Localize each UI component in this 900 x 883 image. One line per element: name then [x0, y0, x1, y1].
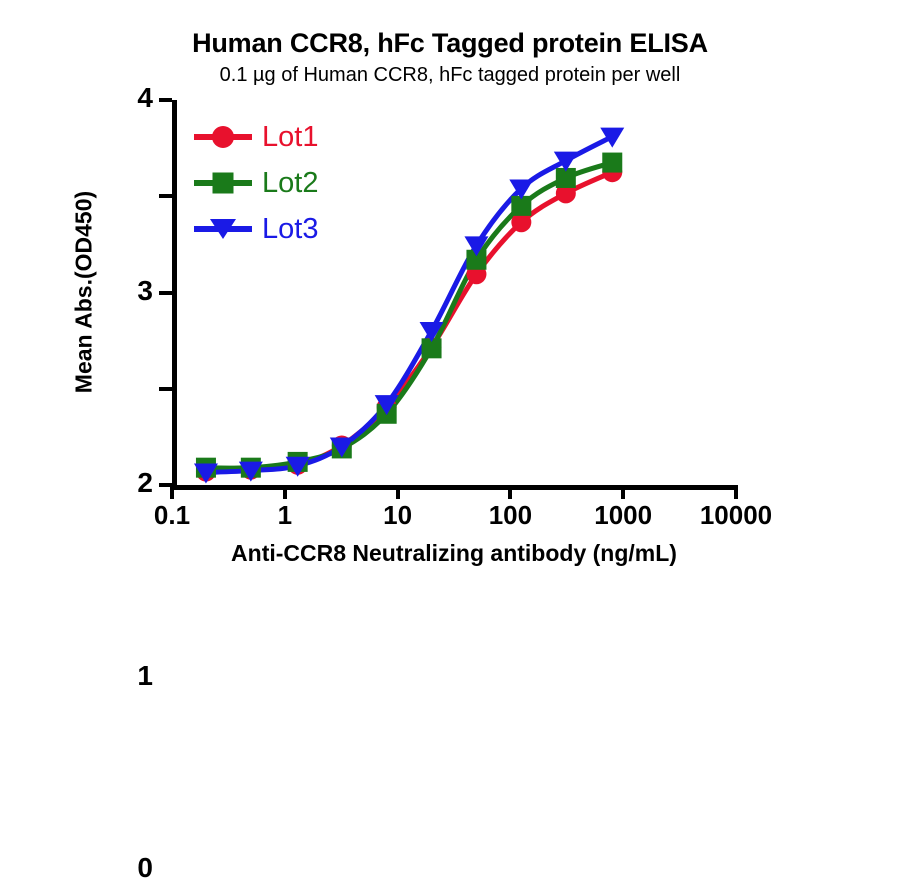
chart-legend: Lot1Lot2Lot3 [194, 114, 318, 252]
legend-label: Lot1 [262, 123, 318, 152]
x-tick-label: 10 [383, 502, 412, 528]
x-tick [283, 485, 287, 499]
y-tick: 3 [159, 194, 172, 198]
x-tick [170, 485, 174, 499]
circle-marker-icon [212, 126, 234, 148]
x-tick-label: 10000 [700, 502, 772, 528]
legend-key-lot1 [194, 126, 252, 148]
y-tick-label: 2 [137, 469, 153, 497]
legend-key-lot2 [194, 172, 252, 194]
chart-subtitle: 0.1 µg of Human CCR8, hFc tagged protein… [0, 64, 900, 87]
x-tick [734, 485, 738, 499]
y-tick: 1 [159, 387, 172, 391]
x-axis-label: Anti-CCR8 Neutralizing antibody (ng/mL) [172, 540, 736, 567]
legend-item-lot3[interactable]: Lot3 [194, 206, 318, 252]
y-tick-label: 0 [137, 854, 153, 882]
x-tick [508, 485, 512, 499]
y-axis-label: Mean Abs.(OD450) [71, 191, 98, 393]
square-marker-icon [213, 173, 234, 194]
x-tick-label: 1000 [594, 502, 652, 528]
legend-key-lot3 [194, 218, 252, 240]
legend-item-lot2[interactable]: Lot2 [194, 160, 318, 206]
x-tick-label: 1 [278, 502, 292, 528]
legend-label: Lot3 [262, 215, 318, 244]
y-tick-label: 1 [137, 662, 153, 690]
chart-figure: Human CCR8, hFc Tagged protein ELISA 0.1… [0, 0, 900, 594]
data-point-lot2 [602, 153, 622, 173]
triangle-down-marker-icon [210, 219, 236, 239]
y-tick-label: 4 [137, 84, 153, 112]
y-tick: 4 [159, 98, 172, 102]
plot-area: 01234 0.1110100100010000 Mean Abs.(OD450… [172, 100, 736, 485]
x-tick [396, 485, 400, 499]
chart-title: Human CCR8, hFc Tagged protein ELISA [0, 28, 900, 59]
legend-item-lot1[interactable]: Lot1 [194, 114, 318, 160]
y-tick: 2 [159, 291, 172, 295]
x-tick-label: 100 [489, 502, 532, 528]
x-tick-label: 0.1 [154, 502, 190, 528]
x-axis-line [172, 485, 736, 490]
y-tick-label: 3 [137, 277, 153, 305]
legend-label: Lot2 [262, 169, 318, 198]
x-tick [621, 485, 625, 499]
data-point-lot3 [600, 128, 624, 148]
